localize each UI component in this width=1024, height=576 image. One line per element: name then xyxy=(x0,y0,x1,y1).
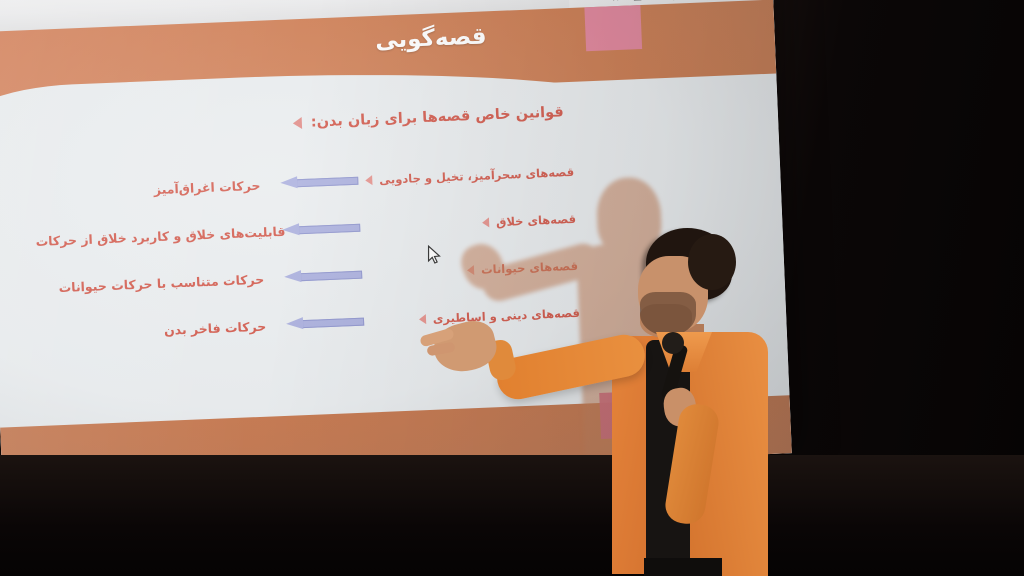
triangle-bullet-icon xyxy=(482,217,489,227)
left-arrow-icon xyxy=(286,315,364,331)
body-rule-cell: حرکات متناسب با حرکات حیوانات xyxy=(58,269,264,296)
arrow-cell xyxy=(280,174,358,190)
story-type-cell: قصه‌های دینی و اساطیری xyxy=(419,305,581,326)
image-icon[interactable] xyxy=(682,0,696,1)
pink-accent-top xyxy=(584,5,642,51)
triangle-bullet-icon xyxy=(365,175,372,185)
story-type-label: قصه‌های سحرآمیز، تخیل و جادویی xyxy=(379,164,574,186)
arrow-cell xyxy=(286,315,364,331)
trousers xyxy=(644,558,722,576)
triangle-bullet-icon xyxy=(419,314,426,324)
body-rule-cell: حرکات اغراق‌آمیز xyxy=(153,175,260,198)
add-page-icon[interactable] xyxy=(631,0,645,3)
left-arrow-icon xyxy=(284,268,362,284)
slide-title: قصه‌گویی xyxy=(375,23,487,54)
triangle-bullet-icon xyxy=(293,117,302,129)
body-rule-cell: حرکات فاخر بدن xyxy=(164,316,267,339)
left-arrow-icon xyxy=(282,221,360,237)
presenter xyxy=(560,228,780,576)
mouse-pointer-icon xyxy=(427,245,442,264)
more-tools-icon[interactable] xyxy=(610,0,624,4)
screenshot-stage: − + Automatic Zoom ☆ xyxy=(0,0,1024,576)
arrow-cell xyxy=(282,221,360,237)
body-rule-label: حرکات اغراق‌آمیز xyxy=(154,178,261,197)
microphone-head xyxy=(662,332,684,354)
stamp-icon[interactable] xyxy=(652,0,666,3)
stage-floor xyxy=(0,455,1024,576)
body-rule-label: حرکات متناسب با حرکات حیوانات xyxy=(58,272,264,295)
hair-back xyxy=(688,234,736,290)
left-arrow-icon xyxy=(280,174,358,190)
story-type-cell: قصه‌های خلاق xyxy=(482,211,576,229)
toolbar-separator xyxy=(673,0,674,1)
triangle-bullet-icon xyxy=(467,265,474,275)
story-type-label: قصه‌های خلاق xyxy=(496,211,576,228)
arrow-cell xyxy=(284,268,362,284)
body-rule-cell: قابلیت‌های خلاق و کاربرد خلاق از حرکات xyxy=(35,221,285,250)
body-rule-label: حرکات فاخر بدن xyxy=(164,319,267,338)
body-rule-label: قابلیت‌های خلاق و کاربرد خلاق از حرکات xyxy=(35,224,285,249)
story-type-cell: قصه‌های سحرآمیز، تخیل و جادویی xyxy=(365,164,574,187)
beard xyxy=(640,292,696,336)
story-type-label: قصه‌های دینی و اساطیری xyxy=(433,305,581,325)
